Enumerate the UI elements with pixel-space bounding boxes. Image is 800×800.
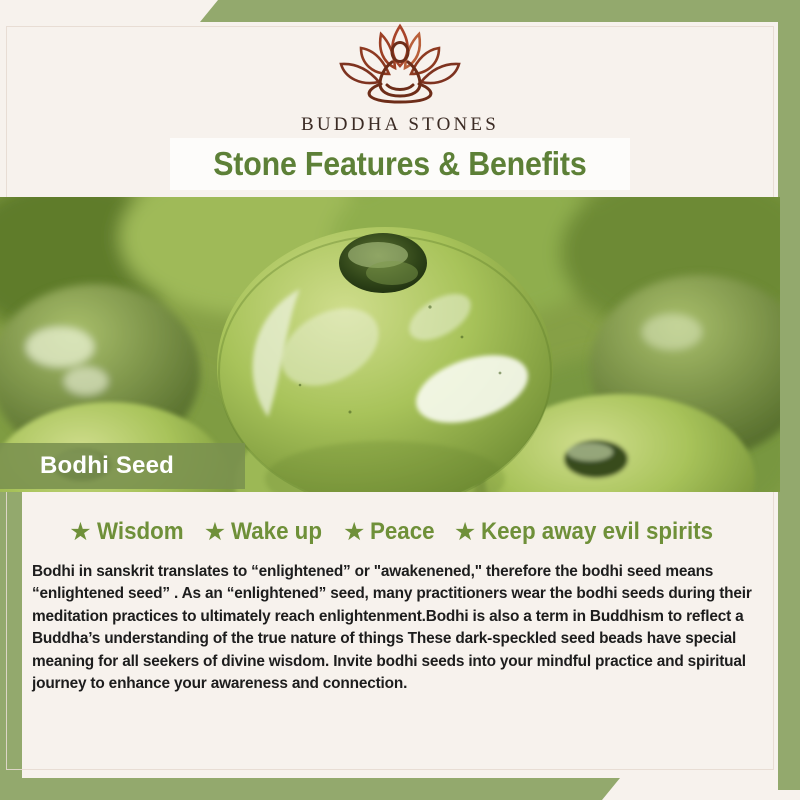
brand-logo: BUDDHA STONES [0, 18, 800, 136]
description-block: Bodhi in sanskrit translates to “enlight… [32, 561, 774, 695]
benefits-list: ★ Wisdom ★ Wake up ★ Peace ★ Keep away e… [22, 518, 778, 546]
hero-caption-text: Bodhi Seed [40, 452, 174, 480]
benefit-label: Peace [370, 518, 435, 546]
frame-bottom-bar [0, 778, 620, 800]
description-text: Bodhi in sanskrit translates to “enlight… [32, 561, 774, 695]
infographic-page: BUDDHA STONES Stone Features & Benefits [0, 0, 800, 800]
star-icon: ★ [69, 520, 91, 545]
benefit-item: ★ Peace [343, 518, 440, 546]
brand-name: BUDDHA STONES [301, 114, 499, 136]
benefit-item: ★ Keep away evil spirits [454, 518, 731, 546]
benefit-label: Wisdom [97, 518, 184, 546]
star-icon: ★ [204, 520, 226, 545]
benefit-label: Keep away evil spirits [481, 518, 713, 546]
star-icon: ★ [343, 520, 365, 545]
page-title: Stone Features & Benefits [213, 145, 586, 183]
benefit-label: Wake up [231, 518, 322, 546]
benefit-item: ★ Wisdom [69, 518, 190, 546]
benefit-item: ★ Wake up [204, 518, 329, 546]
lotus-meditation-icon [325, 18, 475, 110]
page-title-band: Stone Features & Benefits [170, 138, 630, 190]
hero-caption-band: Bodhi Seed [0, 443, 245, 489]
star-icon: ★ [454, 520, 476, 545]
